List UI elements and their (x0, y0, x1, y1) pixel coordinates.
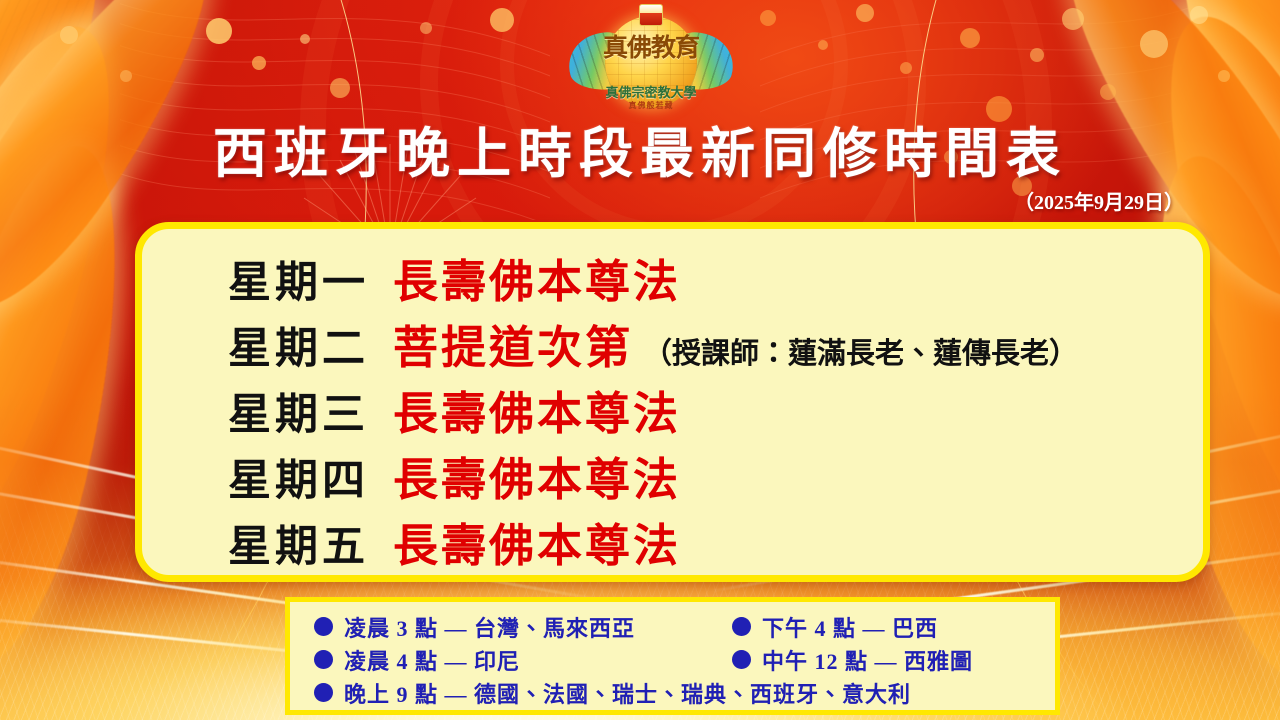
bullet-icon (314, 650, 333, 669)
list-item: 下午 4 點 — 巴西 (732, 610, 1055, 643)
schedule-panel: 星期一 長壽佛本尊法 星期二 菩提道次第 （授課師：蓮滿長老、蓮傳長老） 星期三… (135, 222, 1210, 582)
title-date: （2025年9月29日） (1014, 186, 1184, 215)
schedule-day: 星期二 (228, 314, 369, 376)
title-container: 西班牙晚上時段最新同修時間表 (0, 126, 1280, 182)
table-row: 星期二 菩提道次第 （授課師：蓮滿長老、蓮傳長老） (142, 311, 1203, 377)
schedule-topic: 長壽佛本尊法 (393, 377, 681, 442)
poster-canvas: 真佛教育 真佛宗密教大學 真佛般若藏 西班牙晚上時段最新同修時間表 （2025年… (0, 0, 1280, 720)
schedule-day: 星期四 (228, 446, 369, 508)
logo-main-text: 真佛教育 (566, 36, 736, 61)
timezone-text: 中午 12 點 — 西雅圖 (762, 644, 973, 676)
schedule-topic: 長壽佛本尊法 (393, 245, 681, 310)
logo-sub-text-2: 真佛般若藏 (566, 100, 736, 111)
timezone-column-left: 凌晨 3 點 — 台灣、馬來西亞 凌晨 4 點 — 印尼 (314, 610, 732, 676)
schedule-day: 星期五 (228, 512, 369, 574)
table-row: 星期一 長壽佛本尊法 (142, 245, 1203, 311)
list-item: 凌晨 3 點 — 台灣、馬來西亞 (314, 610, 732, 643)
list-item: 晚上 9 點 — 德國、法國、瑞士、瑞典、西班牙、意大利 (314, 676, 1055, 709)
schedule-day: 星期一 (228, 248, 369, 310)
timezone-column-right: 下午 4 點 — 巴西 中午 12 點 — 西雅圖 (732, 610, 1055, 676)
list-item: 中午 12 點 — 西雅圖 (732, 643, 1055, 676)
list-item: 凌晨 4 點 — 印尼 (314, 643, 732, 676)
schedule-topic: 長壽佛本尊法 (393, 509, 681, 574)
table-row: 星期五 長壽佛本尊法 (142, 509, 1203, 575)
bullet-icon (314, 617, 333, 636)
page-title: 西班牙晚上時段最新同修時間表 (213, 126, 1067, 182)
timezone-panel: 凌晨 3 點 — 台灣、馬來西亞 凌晨 4 點 — 印尼 下午 4 點 — 巴西… (285, 597, 1060, 715)
bullet-icon (314, 683, 333, 702)
table-row: 星期三 長壽佛本尊法 (142, 377, 1203, 443)
schedule-day: 星期三 (228, 380, 369, 442)
table-row: 星期四 長壽佛本尊法 (142, 443, 1203, 509)
timezone-text: 凌晨 3 點 — 台灣、馬來西亞 (344, 611, 635, 643)
timezone-text: 下午 4 點 — 巴西 (762, 611, 938, 643)
timezone-columns: 凌晨 3 點 — 台灣、馬來西亞 凌晨 4 點 — 印尼 下午 4 點 — 巴西… (314, 610, 1055, 676)
timezone-text: 晚上 9 點 — 德國、法國、瑞士、瑞典、西班牙、意大利 (344, 677, 911, 709)
schedule-note: （授課師：蓮滿長老、蓮傳長老） (643, 330, 1078, 372)
brand-logo: 真佛教育 真佛宗密教大學 真佛般若藏 (566, 2, 736, 126)
logo-sub-text: 真佛宗密教大學 (566, 82, 736, 101)
crest-icon (639, 4, 663, 26)
bullet-icon (732, 617, 751, 636)
timezone-text: 凌晨 4 點 — 印尼 (344, 644, 520, 676)
schedule-topic: 菩提道次第 (393, 311, 633, 376)
schedule-topic: 長壽佛本尊法 (393, 443, 681, 508)
bullet-icon (732, 650, 751, 669)
